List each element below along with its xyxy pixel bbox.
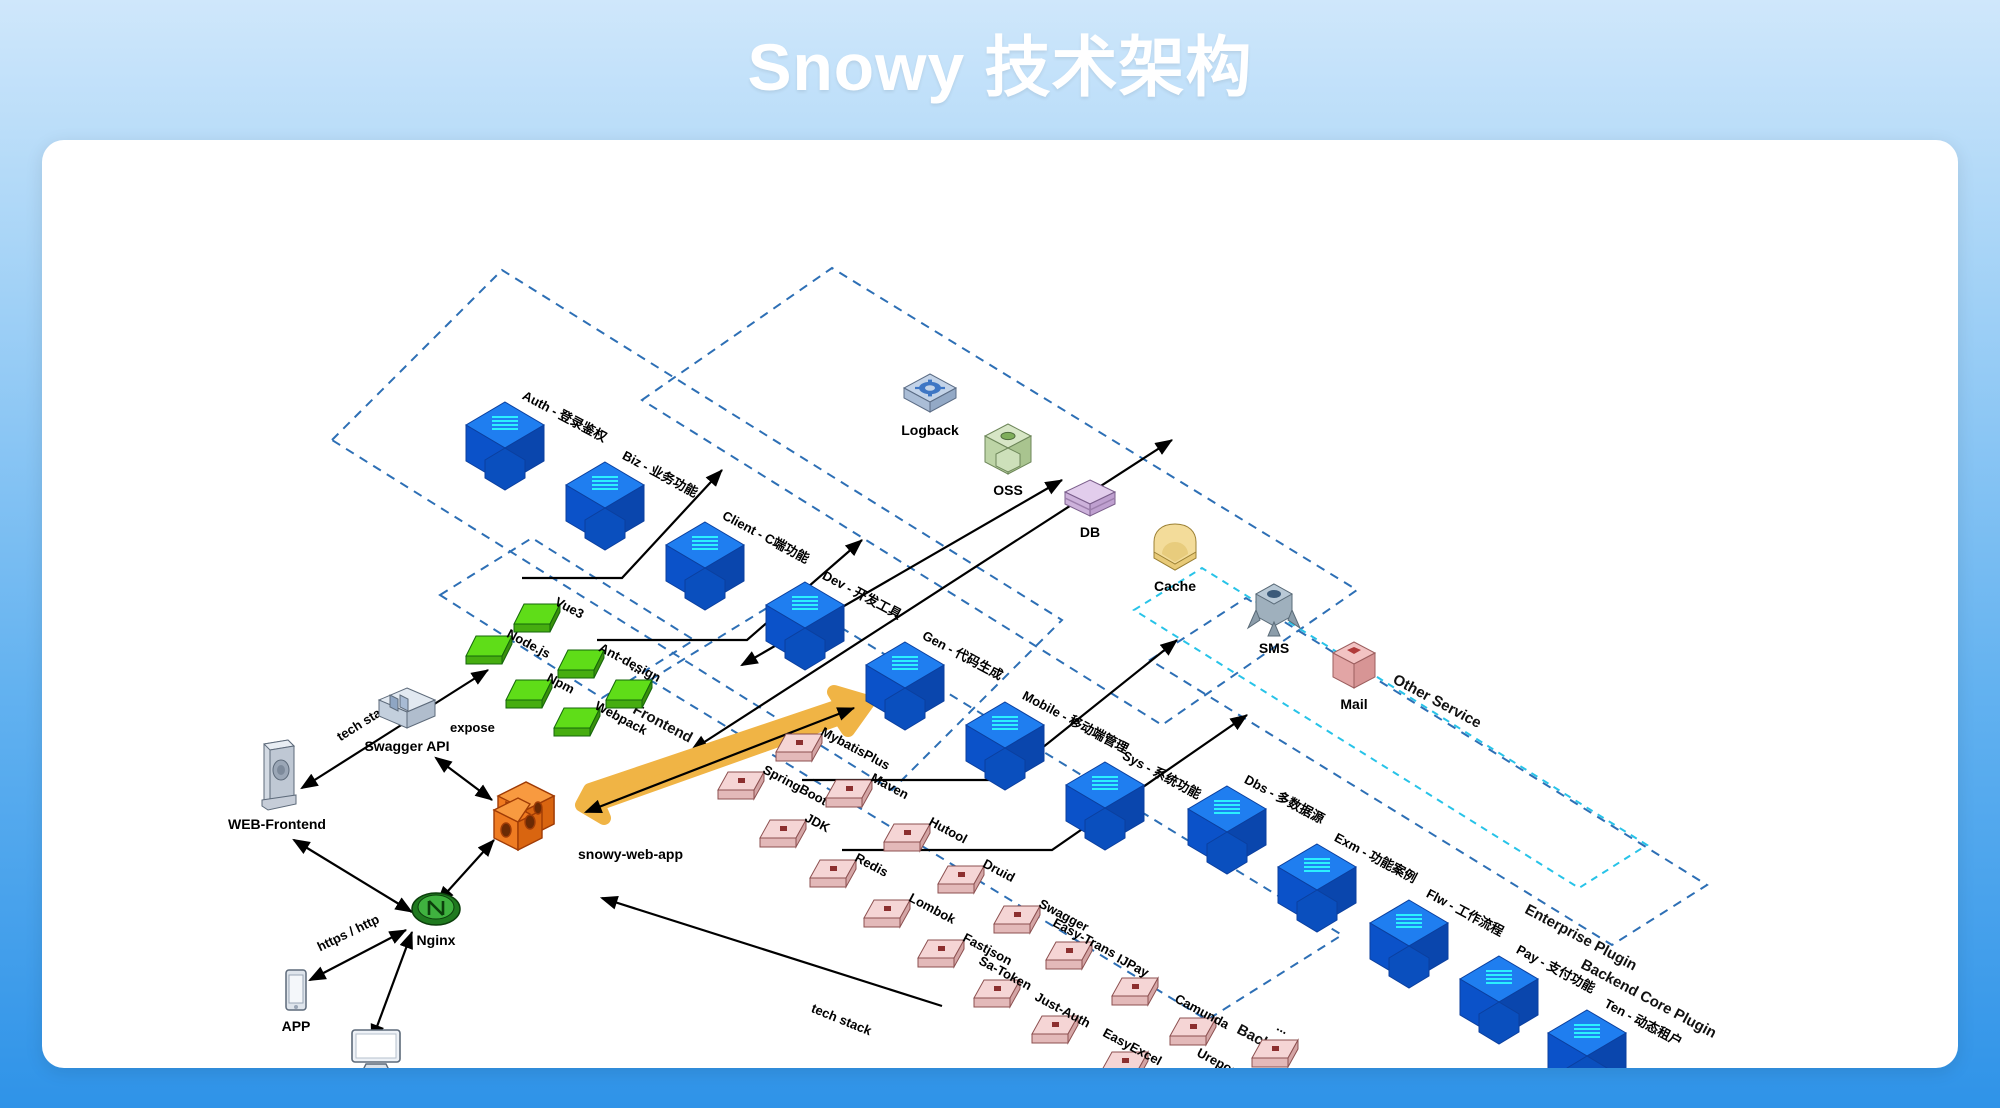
module-cube-icon <box>1062 758 1148 854</box>
backend-chip-hutool[interactable]: Hutool <box>880 822 934 856</box>
plugin-ten[interactable]: Ten - 动态租户 <box>1544 1006 1630 1068</box>
plugin-pay[interactable]: Pay - 支付功能 <box>1456 952 1542 1048</box>
gear-icon <box>900 372 960 420</box>
cache-icon <box>1150 522 1200 576</box>
node-label: snowy-web-app <box>578 846 683 862</box>
module-dev[interactable]: Dev - 开发工具 <box>762 578 848 674</box>
module-cube-icon <box>1366 896 1452 992</box>
service-label: Logback <box>901 422 959 438</box>
module-gen[interactable]: Gen - 代码生成 <box>862 638 948 734</box>
service-oss[interactable]: OSS <box>982 422 1034 485</box>
page-title: Snowy 技术架构 <box>0 14 2000 110</box>
module-biz[interactable]: Biz - 业务功能 <box>562 458 648 554</box>
module-cube-icon <box>462 398 548 494</box>
backend-chip-redis[interactable]: Redis <box>806 858 860 892</box>
backend-chip-justauth[interactable]: Just-Auth <box>1028 1014 1082 1048</box>
phone-icon <box>280 968 312 1016</box>
service-label: Cache <box>1154 578 1196 594</box>
frontend-chip-vue3[interactable]: Vue3 <box>510 602 564 636</box>
node-label: APP <box>282 1018 311 1034</box>
backend-chip-jdk[interactable]: JDK <box>756 818 810 852</box>
module-sys[interactable]: Sys - 系统功能 <box>1062 758 1148 854</box>
module-cube-icon <box>1184 782 1270 878</box>
node-label: WEB-Frontend <box>228 816 326 832</box>
service-mail[interactable]: Mail <box>1330 640 1378 699</box>
plugin-exm[interactable]: Exm - 功能案例 <box>1274 840 1360 936</box>
backend-chip-mybatisplus[interactable]: MybatisPlus <box>772 732 826 766</box>
node-label: Nginx <box>417 932 456 948</box>
service-label: DB <box>1080 524 1100 540</box>
database-icon <box>1062 478 1118 522</box>
plugin-flw[interactable]: Flw - 工作流程 <box>1366 896 1452 992</box>
architecture-diagram: Frontend Backend Other Service Enterpris… <box>42 140 1958 1068</box>
module-cube-icon <box>1456 952 1542 1048</box>
chip-icon <box>1108 976 1162 1010</box>
frontend-chip-nodejs[interactable]: Node.js <box>462 634 516 668</box>
nginx-icon <box>410 888 462 930</box>
module-cube-icon <box>562 458 648 554</box>
service-db[interactable]: DB <box>1062 478 1118 527</box>
chip-icon <box>602 678 656 712</box>
service-sms[interactable]: SMS <box>1246 582 1302 643</box>
mail-icon <box>1330 640 1378 694</box>
backend-chip-swagger[interactable]: Swagger <box>990 904 1044 938</box>
sms-icon <box>1246 582 1302 638</box>
service-cache[interactable]: Cache <box>1150 522 1200 581</box>
module-cube-icon <box>862 638 948 734</box>
node-swagger-api[interactable]: Swagger API <box>376 686 438 741</box>
backend-chip-camunda[interactable]: Camunda <box>1166 1016 1220 1050</box>
backend-chip-easytrans[interactable]: Easy-Trans <box>1042 940 1096 974</box>
backend-chip-easyexcel[interactable]: EasyExcel <box>1098 1050 1152 1068</box>
frontend-chip-npm[interactable]: Npm <box>502 678 556 712</box>
module-client[interactable]: Client - C端功能 <box>662 518 748 614</box>
chip-icon <box>1248 1038 1302 1068</box>
diagram-card: Frontend Backend Other Service Enterpris… <box>42 140 1958 1068</box>
module-cube-icon <box>962 698 1048 794</box>
node-nginx[interactable]: Nginx <box>410 888 462 935</box>
module-cube-icon <box>662 518 748 614</box>
backend-chip-more[interactable]: ... <box>1248 1038 1302 1068</box>
node-app[interactable]: APP <box>280 968 312 1021</box>
backend-chip-maven[interactable]: Maven <box>822 778 876 812</box>
node-web[interactable]: WEB <box>348 1028 404 1068</box>
module-auth[interactable]: Auth - 登录鉴权 <box>462 398 548 494</box>
server-tower-icon <box>254 738 300 814</box>
api-box-icon <box>376 686 438 736</box>
service-logback[interactable]: Logback <box>900 372 960 425</box>
backend-chip-lombok[interactable]: Lombok <box>860 898 914 932</box>
node-snowy-web-app[interactable]: snowy-web-app <box>480 780 576 871</box>
frontend-chip-webpack[interactable]: Webpack <box>550 706 604 740</box>
oss-icon <box>982 422 1034 480</box>
frontend-chip-more[interactable]: ... <box>602 678 656 712</box>
backend-chip-ijpay[interactable]: IJPay <box>1108 976 1162 1010</box>
backend-chip-fastjson[interactable]: Fastjson <box>914 938 968 972</box>
node-web-frontend[interactable]: WEB-Frontend <box>254 738 300 819</box>
backend-chip-springboot[interactable]: SpringBoot <box>714 770 768 804</box>
edge-webfrontend-nginx <box>294 840 412 912</box>
backend-chip-satoken[interactable]: Sa-Token <box>970 978 1024 1012</box>
monitor-icon <box>348 1028 404 1068</box>
module-cube-icon <box>762 578 848 674</box>
module-mobile[interactable]: Mobile - 移动端管理 <box>962 698 1048 794</box>
service-label: Mail <box>1340 696 1367 712</box>
node-label: Swagger API <box>364 738 449 754</box>
service-label: SMS <box>1259 640 1289 656</box>
edge-web-nginx <box>372 932 412 1040</box>
plugin-dbs[interactable]: Dbs - 多数据源 <box>1184 782 1270 878</box>
app-cluster-icon <box>480 780 576 866</box>
edge-label-expose: expose <box>450 720 495 735</box>
module-cube-icon <box>1274 840 1360 936</box>
backend-chip-druid[interactable]: Druid <box>934 864 988 898</box>
service-label: OSS <box>993 482 1023 498</box>
